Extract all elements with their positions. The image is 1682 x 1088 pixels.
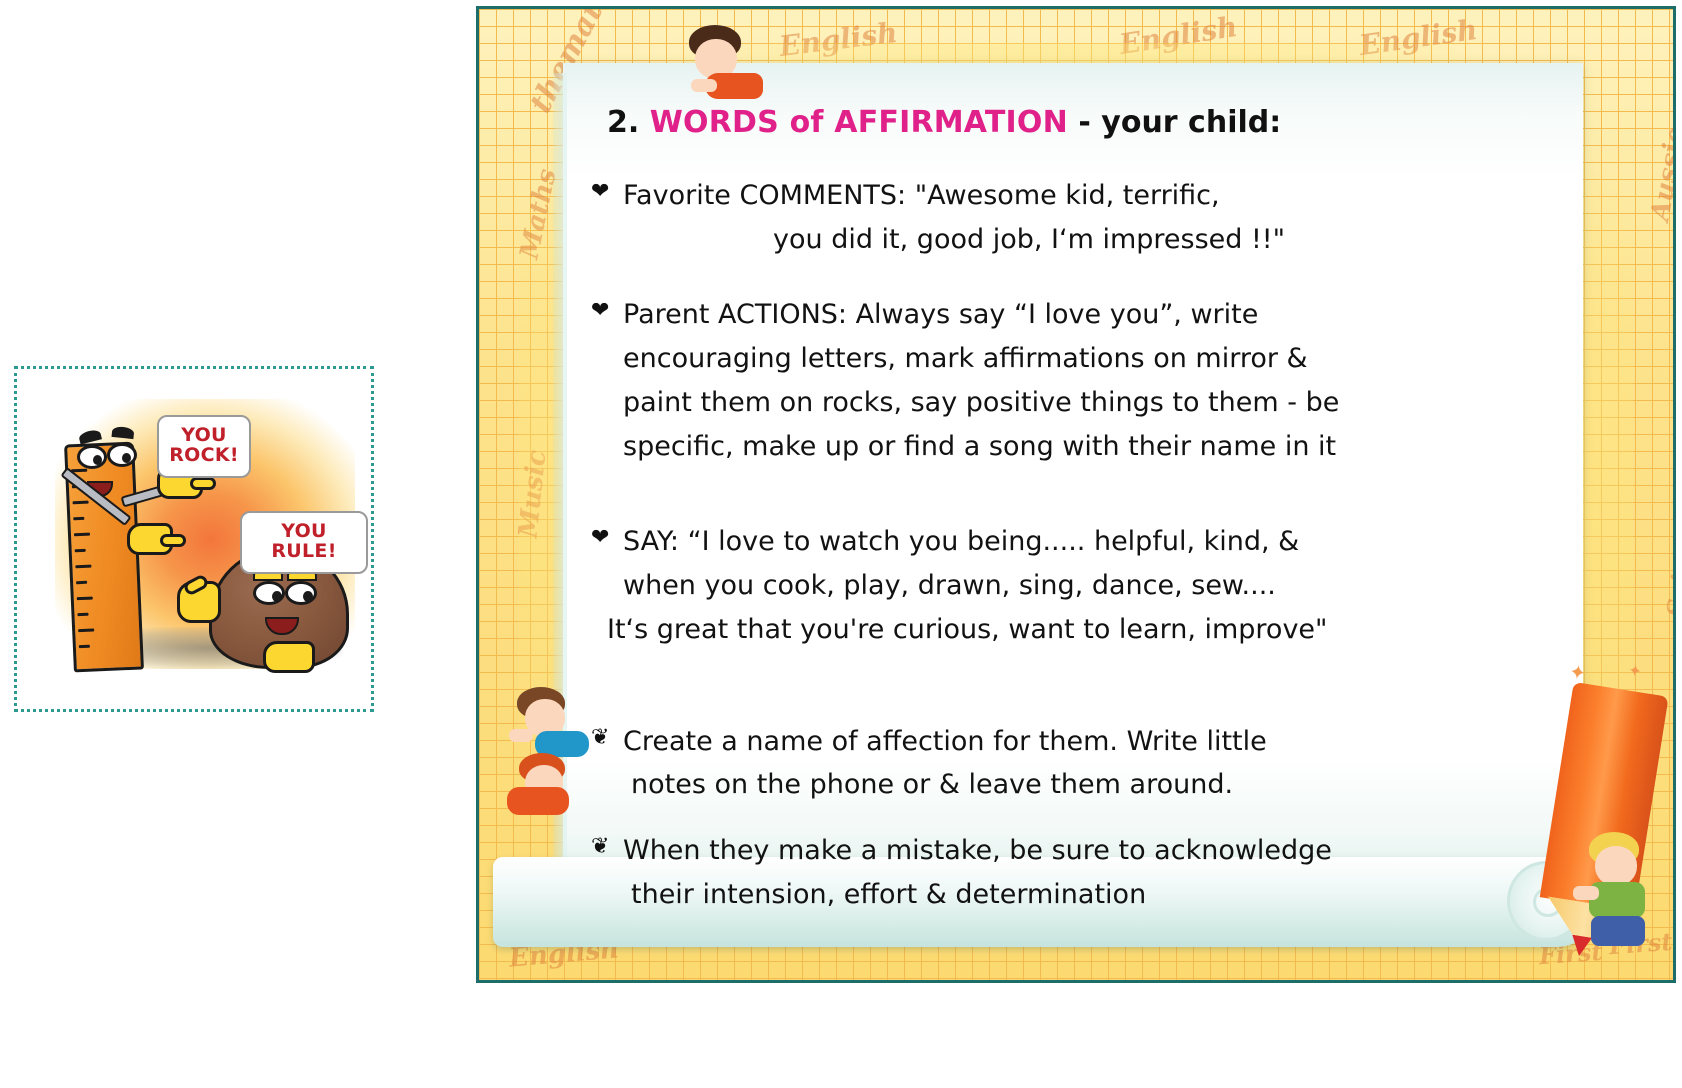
line-text: notes on the phone or & leave them aroun… <box>589 763 1549 807</box>
rock-hand-lower <box>263 641 315 673</box>
block-parent-actions: ❤ Parent ACTIONS: Always say “I love you… <box>589 293 1549 468</box>
affirmation-poster: thematic English English English Maths M… <box>476 6 1676 983</box>
boy-peeking-top <box>679 25 769 105</box>
ruler-and-rock-cartoon-panel: YOU ROCK! YOU RULE! <box>14 366 374 712</box>
heart-icon: ❤ <box>591 520 609 556</box>
line-text: Create a name of affection for them. Wri… <box>623 726 1267 757</box>
line-text: SAY: “I love to watch you being..... hel… <box>623 526 1299 557</box>
speech-bubble-you-rock: YOU ROCK! <box>157 415 251 478</box>
block-name-of-affection: ❦ Create a name of affection for them. W… <box>589 720 1549 807</box>
bullet-line: ❦ When they make a mistake, be sure to a… <box>589 829 1549 873</box>
ruler-eye-right <box>107 443 137 467</box>
line-text: It‘s great that you're curious, want to … <box>589 608 1549 652</box>
fleuron-icon: ❦ <box>591 829 609 865</box>
bullet-line: ❤ Favorite COMMENTS: "Awesome kid, terri… <box>589 174 1549 218</box>
rock-eye-left <box>253 581 285 605</box>
bubble-line-2: ROCK! <box>165 446 243 466</box>
boy-peeking-left <box>501 687 591 759</box>
cartoon-stage: YOU ROCK! YOU RULE! <box>17 369 371 709</box>
line-text: encouraging letters, mark affirmations o… <box>589 337 1549 381</box>
boy-climbing-pencil <box>1571 832 1663 952</box>
rock-hand-pointing <box>177 581 221 623</box>
block-say: ❤ SAY: “I love to watch you being..... h… <box>589 520 1549 651</box>
line-text: paint them on rocks, say positive things… <box>589 381 1549 425</box>
line-text: Favorite COMMENTS: "Awesome kid, terrifi… <box>623 180 1220 211</box>
bullet-line: ❤ SAY: “I love to watch you being..... h… <box>589 520 1549 564</box>
poster-page: YOU ROCK! YOU RULE! thematic English Eng… <box>0 0 1682 1088</box>
bullet-line: ❤ Parent ACTIONS: Always say “I love you… <box>589 293 1549 337</box>
speech-bubble-you-rule: YOU RULE! <box>240 511 368 574</box>
poster-content: 2. WORDS of AFFIRMATION - your child: ❤ … <box>589 105 1549 939</box>
bullet-line: ❦ Create a name of affection for them. W… <box>589 720 1549 764</box>
page-title: 2. WORDS of AFFIRMATION - your child: <box>607 105 1549 140</box>
rock-eye-right <box>285 581 317 605</box>
bubble-line-1: YOU <box>165 426 243 446</box>
heart-icon: ❤ <box>591 293 609 329</box>
line-text: their intension, effort & determination <box>589 873 1549 917</box>
bubble-line-1: YOU RULE! <box>248 522 360 562</box>
line-text: specific, make up or find a song with th… <box>589 425 1549 469</box>
title-highlight: WORDS of AFFIRMATION <box>650 105 1068 140</box>
line-text: you did it, good job, I‘m impressed !!" <box>589 218 1549 262</box>
ruler-hand-lower <box>127 523 173 555</box>
line-text: When they make a mistake, be sure to ack… <box>623 835 1332 866</box>
block-favorite-comments: ❤ Favorite COMMENTS: "Awesome kid, terri… <box>589 174 1549 261</box>
line-text: when you cook, play, drawn, sing, dance,… <box>589 564 1549 608</box>
girl-peeking-left <box>497 751 587 821</box>
fleuron-icon: ❦ <box>591 720 609 756</box>
block-mistake-acknowledge: ❦ When they make a mistake, be sure to a… <box>589 829 1549 916</box>
title-tail: - your child: <box>1078 105 1281 140</box>
heart-icon: ❤ <box>591 174 609 210</box>
ruler-eye-left <box>77 445 107 469</box>
title-number: 2. <box>607 105 639 140</box>
line-text: Parent ACTIONS: Always say “I love you”,… <box>623 299 1258 330</box>
